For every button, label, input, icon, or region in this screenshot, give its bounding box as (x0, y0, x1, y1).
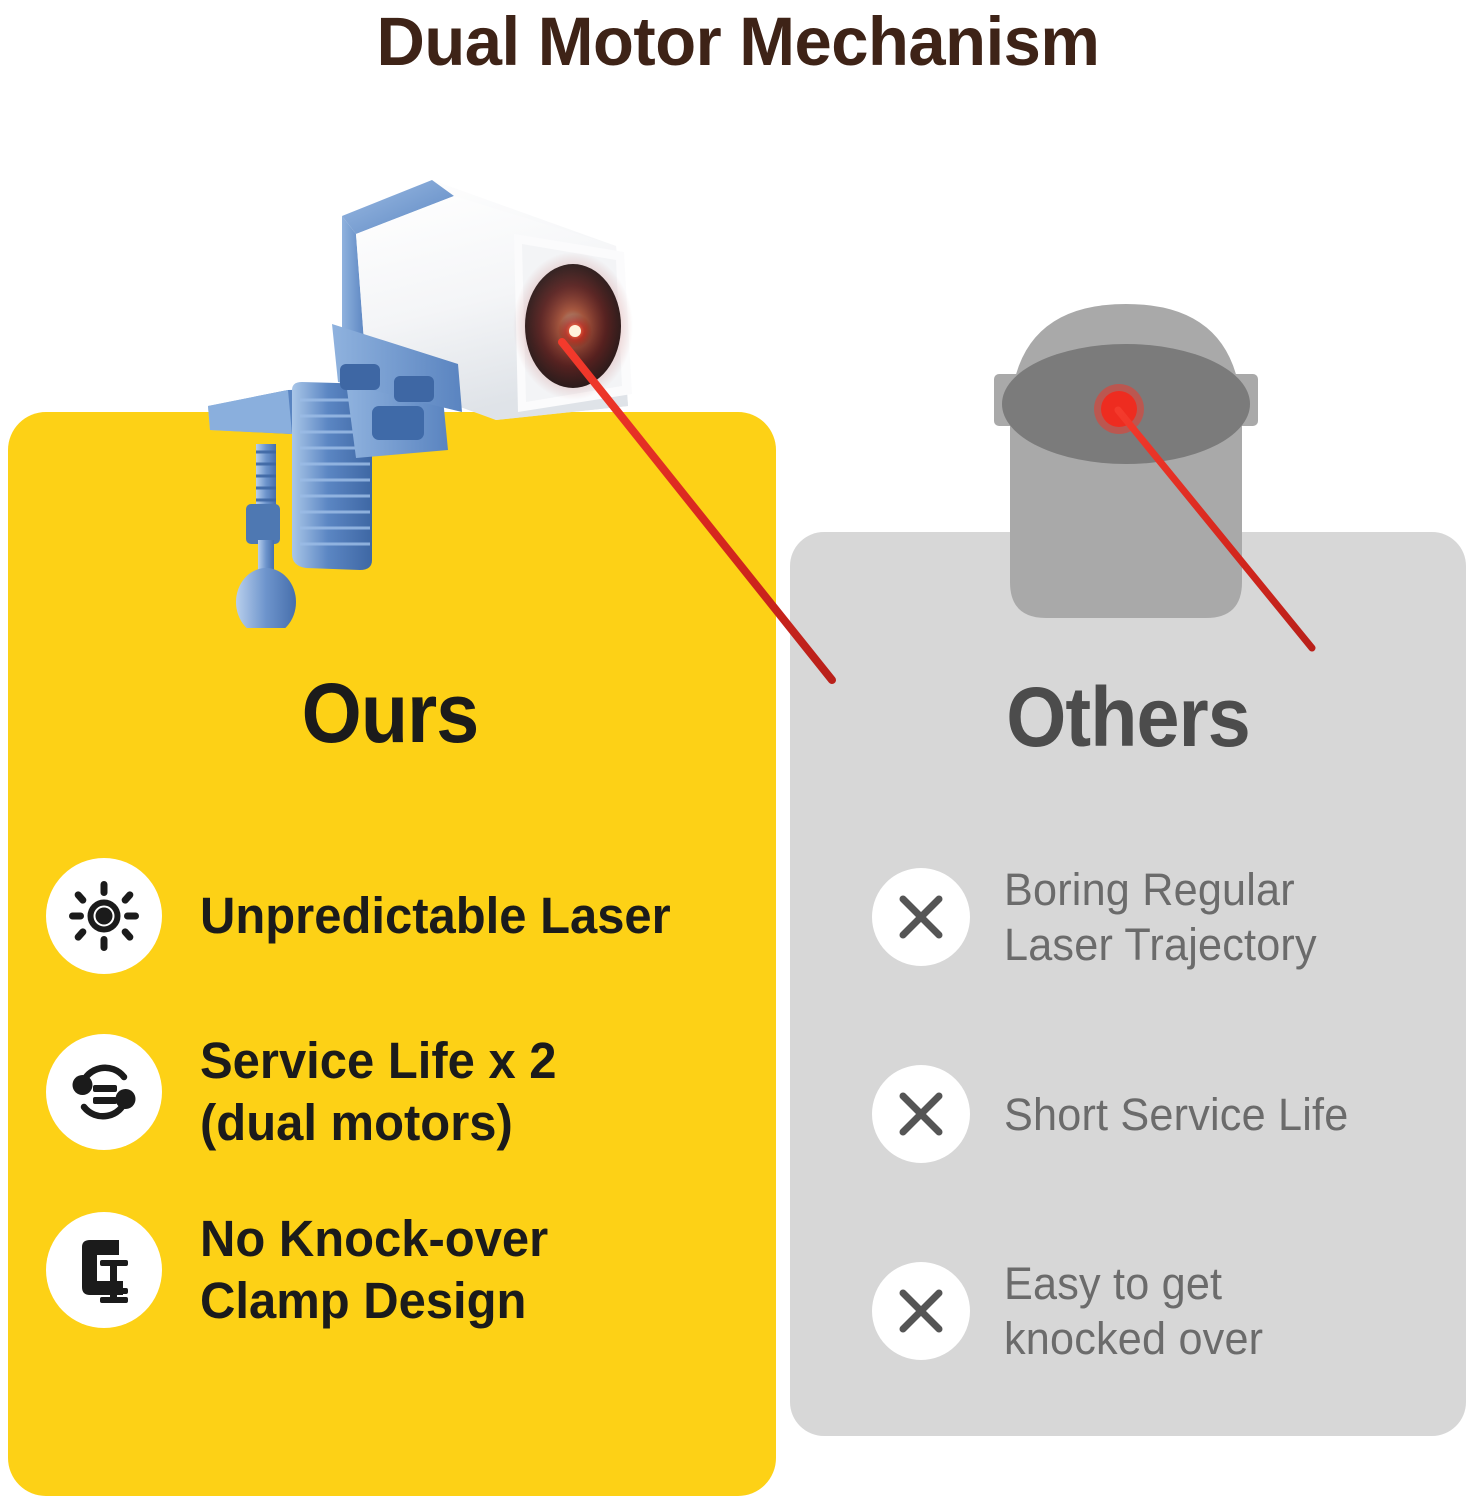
ours-feature-label: Unpredictable Laser (200, 885, 671, 947)
others-feature-list: Boring Regular Laser Trajectory Short Se… (872, 862, 1452, 1454)
others-feature-label: Boring Regular Laser Trajectory (1004, 862, 1317, 972)
sun-brightness-icon (46, 858, 162, 974)
others-feature-label: Easy to get knocked over (1004, 1256, 1263, 1366)
others-feature-item-2: Short Service Life (872, 1060, 1452, 1168)
ours-feature-label: No Knock-over Clamp Design (200, 1208, 548, 1332)
cross-icon (872, 1262, 970, 1360)
ours-feature-item-1: Unpredictable Laser (46, 856, 776, 976)
cross-icon (872, 1065, 970, 1163)
others-feature-label: Short Service Life (1004, 1087, 1348, 1142)
ours-feature-list: Unpredictable Laser Service Life x 2 (du… (46, 856, 776, 1386)
ours-heading: Ours (31, 668, 749, 758)
dual-motor-cycle-icon (46, 1034, 162, 1150)
ours-feature-label: Service Life x 2 (dual motors) (200, 1030, 557, 1154)
others-device-image (962, 282, 1292, 654)
others-heading: Others (817, 672, 1439, 762)
ours-feature-item-3: No Knock-over Clamp Design (46, 1208, 776, 1332)
ours-feature-item-2: Service Life x 2 (dual motors) (46, 1030, 776, 1154)
page-title: Dual Motor Mechanism (22, 2, 1454, 82)
cross-icon (872, 868, 970, 966)
others-feature-item-1: Boring Regular Laser Trajectory (872, 862, 1452, 972)
others-feature-item-3: Easy to get knocked over (872, 1256, 1452, 1366)
c-clamp-icon (46, 1212, 162, 1328)
infographic-root: Dual Motor Mechanism (0, 0, 1476, 1500)
ours-device-image (196, 168, 666, 628)
